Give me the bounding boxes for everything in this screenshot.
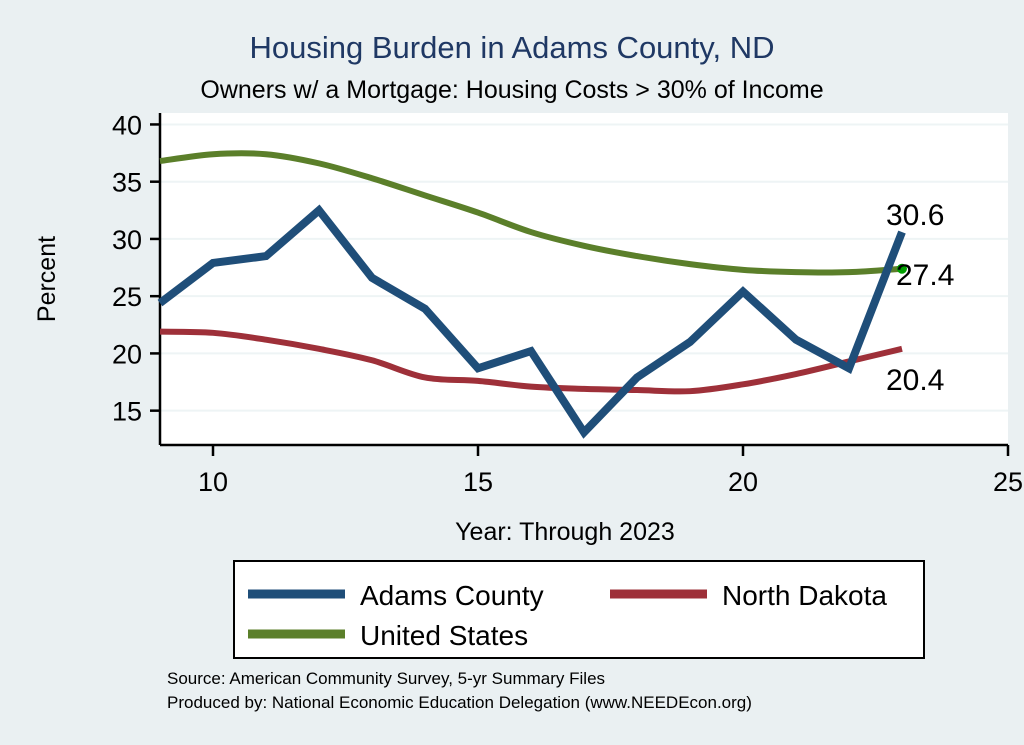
y-tick-label: 15 bbox=[112, 397, 142, 427]
y-tick-label: 25 bbox=[112, 282, 142, 312]
x-tick-label: 15 bbox=[463, 467, 493, 497]
y-tick-label: 20 bbox=[112, 339, 142, 369]
x-axis-label: Year: Through 2023 bbox=[455, 518, 675, 546]
y-tick-label: 40 bbox=[112, 110, 142, 140]
legend-label-adams-county[interactable]: Adams County bbox=[360, 580, 544, 611]
x-tick-label: 20 bbox=[728, 467, 758, 497]
x-tick-label: 10 bbox=[198, 467, 228, 497]
legend-label-united-states[interactable]: United States bbox=[360, 620, 528, 651]
end-label-united-states: 27.4 bbox=[896, 259, 954, 292]
chart-figure: Housing Burden in Adams County, ND Owner… bbox=[0, 0, 1024, 745]
chart-svg: Housing Burden in Adams County, ND Owner… bbox=[0, 0, 1024, 745]
footer-producer: Produced by: National Economic Education… bbox=[167, 693, 752, 712]
footer-source: Source: American Community Survey, 5-yr … bbox=[167, 669, 605, 688]
x-tick-label: 25 bbox=[993, 467, 1023, 497]
y-axis-label: Percent bbox=[33, 236, 61, 322]
y-tick-label: 35 bbox=[112, 168, 142, 198]
end-label-north-dakota: 20.4 bbox=[886, 364, 944, 397]
end-label-adams-county: 30.6 bbox=[886, 199, 944, 232]
chart-subtitle: Owners w/ a Mortgage: Housing Costs > 30… bbox=[200, 76, 823, 104]
y-tick-label: 30 bbox=[112, 225, 142, 255]
legend-label-north-dakota[interactable]: North Dakota bbox=[722, 580, 887, 611]
chart-title: Housing Burden in Adams County, ND bbox=[250, 30, 775, 65]
